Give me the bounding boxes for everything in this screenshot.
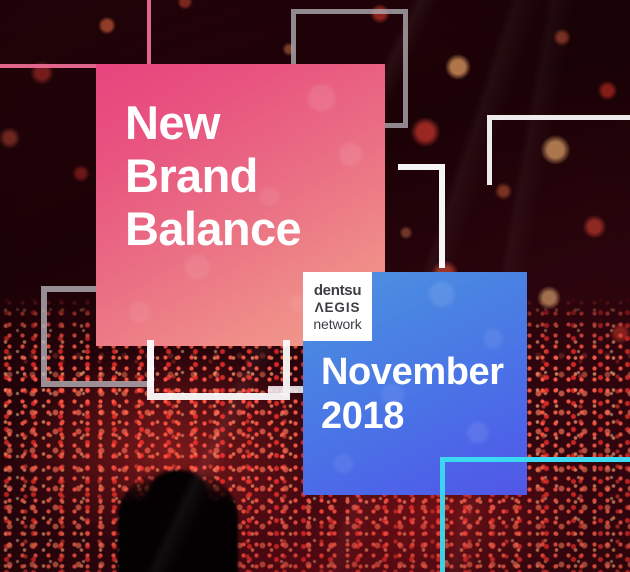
frame-pink-outline-top-left [0,0,151,68]
logo-line-dentsu: dentsu [314,282,361,299]
page-title: New Brand Balance [125,96,375,255]
frame-white-bracket-right [487,115,630,185]
title-line-3: Balance [125,202,375,255]
logo-line-network: network [313,316,361,333]
poster-canvas: New Brand Balance November 2018 dentsu Λ… [0,0,630,572]
frame-cyan-outline-bottom-right [440,457,630,572]
date-block: November 2018 [321,350,531,438]
dentsu-aegis-network-logo: dentsu ΛEGIS network [303,272,372,341]
frame-cyan-outline-top-edge [440,457,630,462]
title-line-1: New [125,96,375,149]
title-line-2: Brand [125,149,375,202]
logo-line-aegis: ΛEGIS [315,299,361,316]
frame-white-bracket-top-right [398,164,445,268]
date-line-2: 2018 [321,394,531,438]
date-line-1: November [321,350,531,394]
